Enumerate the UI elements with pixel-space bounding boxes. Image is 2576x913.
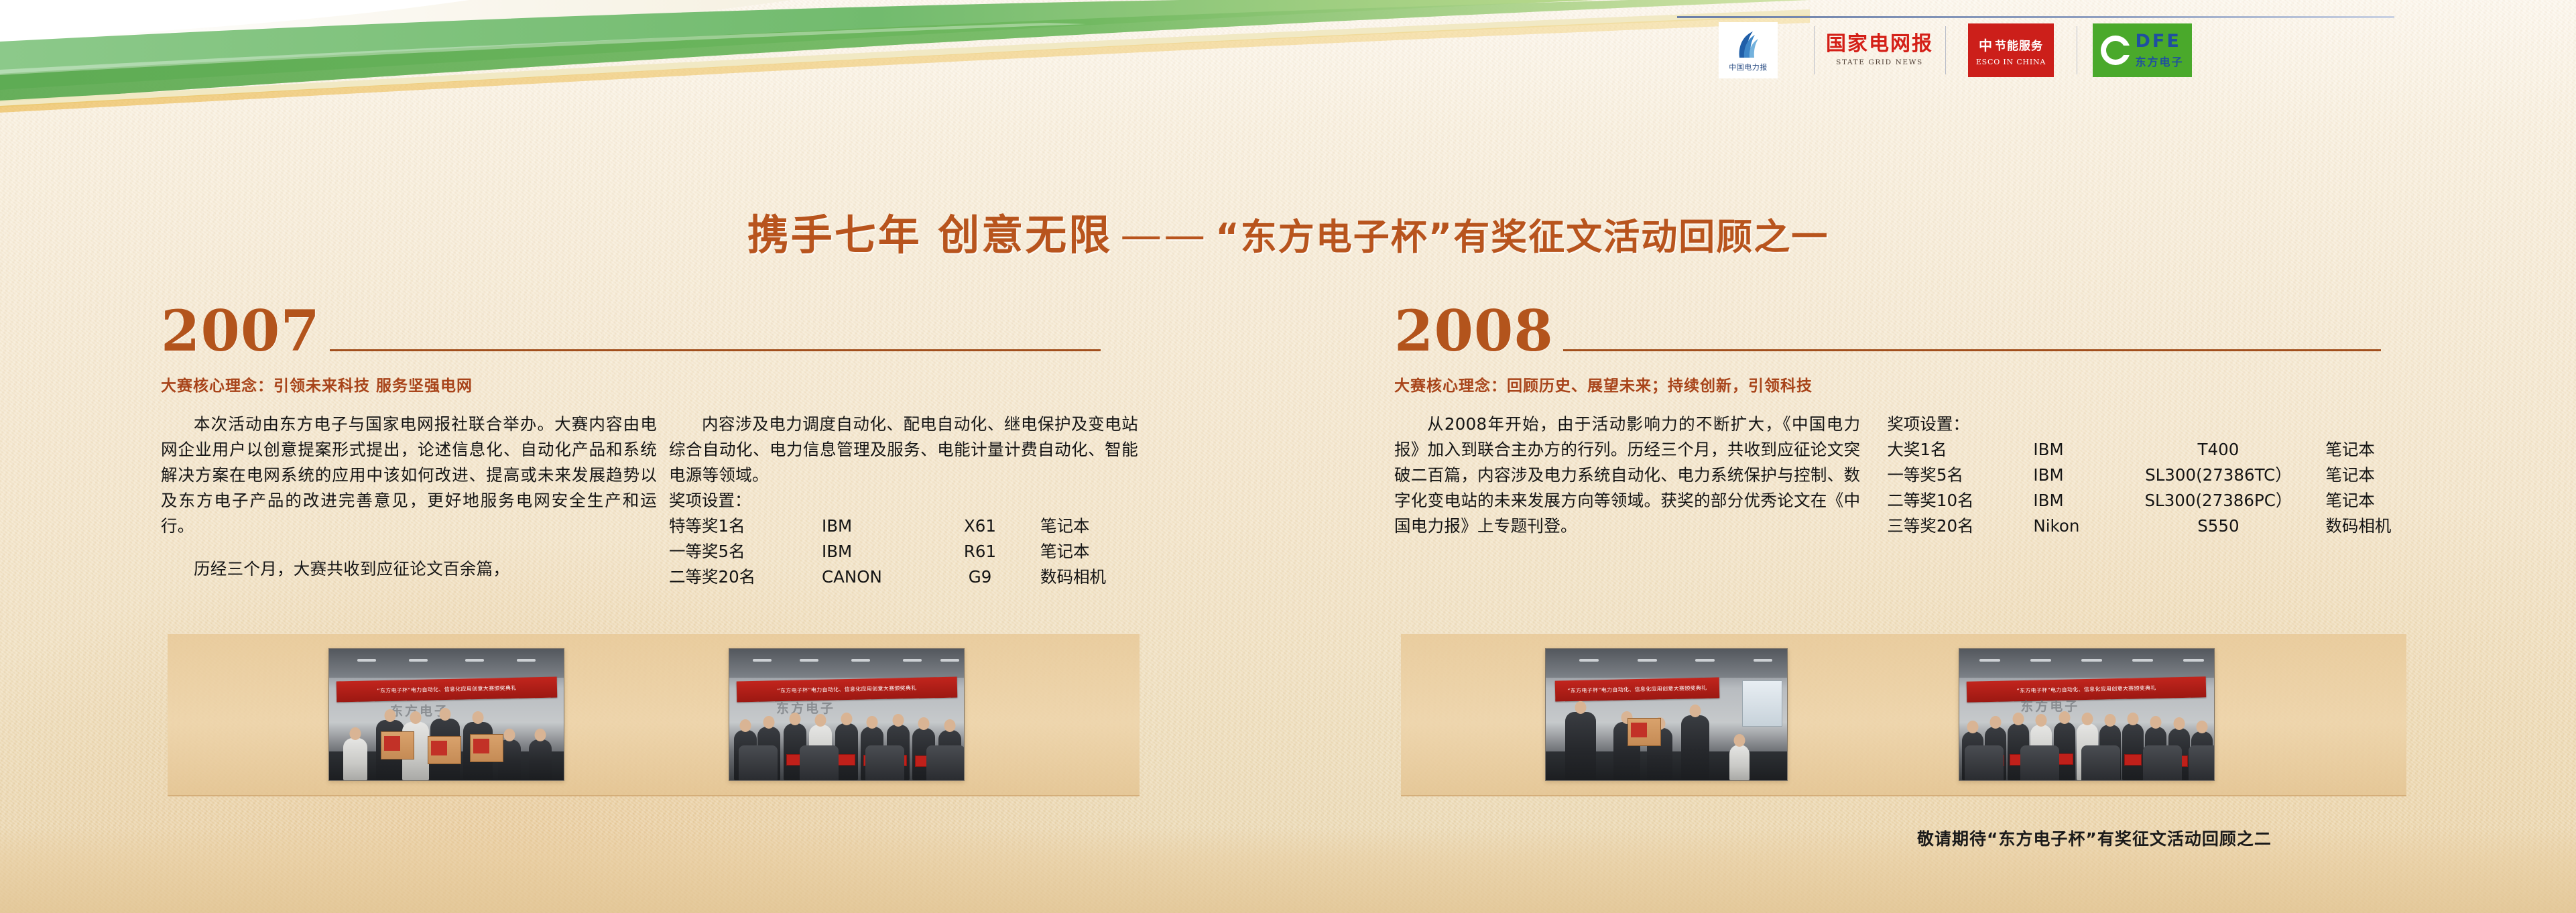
section-2008: 2008 大赛核心理念：回顾历史、展望未来；持续创新，引领科技 从2008年开始…: [1394, 295, 2440, 539]
award-model: S550: [2131, 513, 2325, 539]
year-rule: [330, 349, 1101, 351]
award-kind: 笔记本: [1040, 513, 1106, 539]
body-column-right-2007: 内容涉及电力调度自动化、配电自动化、继电保护及变电站综合自动化、电力信息管理及服…: [669, 412, 1138, 590]
paragraph-block: 内容涉及电力调度自动化、配电自动化、继电保护及变电站综合自动化、电力信息管理及服…: [669, 412, 1138, 488]
esco-english-name: ESCO IN CHINA: [1976, 58, 2046, 66]
dfe-logo-tile: DFE 东方电子: [2093, 23, 2192, 77]
esco-chinese-name: 节能服务: [1995, 36, 2043, 53]
award-rank: 三等奖20名: [1887, 513, 2033, 539]
concept-label: 大赛核心理念：: [161, 377, 273, 395]
sgn-chinese-name: 国家电网报: [1826, 34, 1933, 54]
award-model: R61: [940, 539, 1040, 564]
award-kind: 笔记本: [1040, 539, 1106, 564]
awards-title: 奖项设置：: [1887, 412, 2440, 437]
award-brand: IBM: [822, 513, 940, 539]
event-photo: “东方电子杯”电力自动化、信息化应用创意大赛颁奖典礼 东方电子: [1959, 648, 2215, 781]
concept-value: 回顾历史、展望未来；持续创新，引领科技: [1507, 377, 1813, 395]
table-row: 特等奖1名 IBM X61 笔记本: [669, 513, 1106, 539]
section-2007: 2007 大赛核心理念：引领未来科技 服务坚强电网 本次活动由东方电子与国家电网…: [161, 295, 1166, 590]
logo-dfe: DFE 东方电子: [2077, 22, 2208, 78]
award-kind: 笔记本: [2325, 437, 2391, 463]
dfe-abbr: DFE: [2135, 32, 2181, 50]
logo-state-grid-news: 国家电网报 STATE GRID NEWS: [1814, 22, 1945, 78]
award-kind: 数码相机: [1040, 564, 1106, 590]
title-subtitle: “东方电子杯”有奖征文活动回顾之一: [1215, 216, 1829, 258]
award-brand: CANON: [822, 564, 940, 590]
paragraph: 历经三个月，大赛共收到应征论文百余篇，: [161, 556, 657, 582]
logo-china-electric-power-news: 中国电力报: [1682, 22, 1814, 78]
award-model: T400: [2131, 437, 2325, 463]
table-row: 一等奖5名 IBM R61 笔记本: [669, 539, 1106, 564]
event-photo: “东方电子杯”电力自动化、信息化应用创意大赛颁奖典礼 东方电子: [328, 648, 564, 781]
poster-canvas: 中国电力报 国家电网报 STATE GRID NEWS 中 节能服务 ESCO …: [0, 0, 2576, 913]
table-row: 大奖1名 IBM T400 笔记本: [1887, 437, 2391, 463]
dfe-chinese-name: 东方电子: [2135, 53, 2183, 69]
title-dash: ——: [1112, 210, 1215, 259]
logo-esco-in-china: 中 节能服务 ESCO IN CHINA: [1945, 22, 2077, 78]
awards-table-2008: 大奖1名 IBM T400 笔记本 一等奖5名 IBM SL300(27386T…: [1887, 437, 2391, 539]
paragraph: 从2008年开始，由于活动影响力的不断扩大，《中国电力报》加入到联合主办方的行列…: [1394, 412, 1860, 539]
cepn-caption: 中国电力报: [1729, 62, 1768, 72]
award-model: SL300(27386TC）: [2131, 463, 2325, 488]
body-column-left-2007: 本次活动由东方电子与国家电网报社联合举办。大赛内容由电网企业用户以创意提案形式提…: [161, 412, 657, 590]
award-rank: 一等奖5名: [669, 539, 822, 564]
award-model: SL300(27386PC）: [2131, 488, 2325, 513]
award-kind: 笔记本: [2325, 488, 2391, 513]
award-brand: IBM: [822, 539, 940, 564]
event-photo: “东方电子杯”电力自动化、信息化应用创意大赛颁奖典礼: [1545, 648, 1788, 781]
award-kind: 数码相机: [2325, 513, 2391, 539]
sponsor-logo-bar: 中国电力报 国家电网报 STATE GRID NEWS 中 节能服务 ESCO …: [1677, 4, 2549, 84]
year-header-2008: 2008: [1394, 295, 2440, 359]
awards-table-2007: 特等奖1名 IBM X61 笔记本 一等奖5名 IBM R61 笔记本: [669, 513, 1106, 590]
dfe-ring-icon: [2101, 36, 2130, 65]
concept-line-2007: 大赛核心理念：引领未来科技 服务坚强电网: [161, 373, 1166, 395]
cepn-logo-tile: 中国电力报: [1719, 22, 1778, 78]
award-brand: Nikon: [2033, 513, 2131, 539]
body-column-right-2008: 奖项设置： 大奖1名 IBM T400 笔记本 一等奖5名 IBM SL300(…: [1887, 412, 2440, 539]
award-kind: 笔记本: [2325, 463, 2391, 488]
awards-title: 奖项设置：: [669, 488, 1138, 513]
paragraph: 本次活动由东方电子与国家电网报社联合举办。大赛内容由电网企业用户以创意提案形式提…: [161, 412, 657, 539]
award-rank: 二等奖10名: [1887, 488, 2033, 513]
table-row: 一等奖5名 IBM SL300(27386TC） 笔记本: [1887, 463, 2391, 488]
page-title: 携手七年 创意无限——“东方电子杯”有奖征文活动回顾之一: [0, 201, 2576, 261]
year-number: 2008: [1394, 303, 1554, 359]
cepn-swirl-icon: [1733, 28, 1764, 60]
award-rank: 一等奖5名: [1887, 463, 2033, 488]
body-column-left-2008: 从2008年开始，由于活动影响力的不断扩大，《中国电力报》加入到联合主办方的行列…: [1394, 412, 1860, 539]
award-rank: 大奖1名: [1887, 437, 2033, 463]
award-brand: IBM: [2033, 463, 2131, 488]
header-swoosh-decoration: [0, 0, 1810, 121]
photo-strip-2007: “东方电子杯”电力自动化、信息化应用创意大赛颁奖典礼 东方电子 “东方电子杯”电…: [168, 633, 1140, 796]
concept-value: 引领未来科技 服务坚强电网: [273, 377, 473, 395]
photo-strip-2008: “东方电子杯”电力自动化、信息化应用创意大赛颁奖典礼 “东方电子杯”电力自动化、…: [1401, 633, 2406, 796]
year-header-2007: 2007: [161, 295, 1166, 359]
concept-line-2008: 大赛核心理念：回顾历史、展望未来；持续创新，引领科技: [1394, 373, 2440, 395]
award-rank: 特等奖1名: [669, 513, 822, 539]
title-main: 携手七年 创意无限: [747, 210, 1113, 259]
table-row: 三等奖20名 Nikon S550 数码相机: [1887, 513, 2391, 539]
award-model: X61: [940, 513, 1040, 539]
esco-logo-tile: 中 节能服务 ESCO IN CHINA: [1968, 23, 2054, 77]
table-row: 二等奖20名 CANON G9 数码相机: [669, 564, 1106, 590]
table-row: 二等奖10名 IBM SL300(27386PC） 笔记本: [1887, 488, 2391, 513]
year-rule: [1563, 349, 2381, 351]
concept-label: 大赛核心理念：: [1394, 377, 1507, 395]
award-model: G9: [940, 564, 1040, 590]
award-brand: IBM: [2033, 437, 2131, 463]
award-brand: IBM: [2033, 488, 2131, 513]
year-number: 2007: [161, 303, 320, 359]
paragraph: 内容涉及电力调度自动化、配电自动化、继电保护及变电站综合自动化、电力信息管理及服…: [669, 412, 1138, 488]
award-rank: 二等奖20名: [669, 564, 822, 590]
esco-zhong-glyph: 中: [1979, 35, 1992, 54]
footer-note: 敬请期待“东方电子杯”有奖征文活动回顾之二: [1917, 826, 2480, 850]
logo-bar-rule: [1677, 16, 2394, 18]
event-photo: “东方电子杯”电力自动化、信息化应用创意大赛颁奖典礼 东方电子: [729, 648, 965, 781]
sgn-english-name: STATE GRID NEWS: [1836, 58, 1923, 66]
